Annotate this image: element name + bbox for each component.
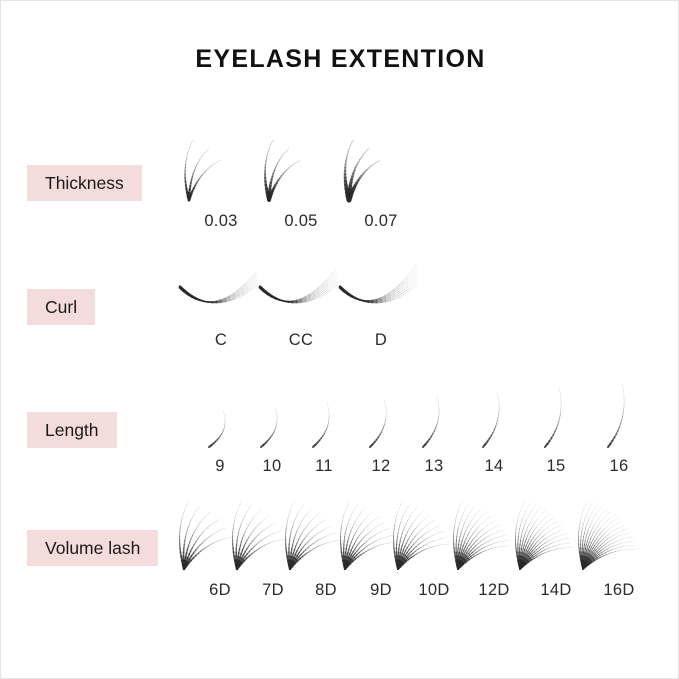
specimen-label-length-10: 10: [257, 457, 287, 476]
lash-graphic-curl-d: [336, 268, 426, 323]
specimen-volume-lash-16d: 16D: [575, 495, 663, 575]
specimen-length-13: 13: [419, 391, 449, 451]
lash-graphic-curl-cc: [256, 268, 346, 323]
specimen-label-length-16: 16: [604, 457, 634, 476]
specimen-label-length-11: 11: [309, 457, 339, 476]
lash-graphic-length-12: [366, 395, 396, 451]
row-label-chip-length: Length: [27, 412, 117, 448]
lash-graphic-thickness-0.03: [181, 134, 261, 206]
lash-graphic-length-10: [257, 403, 287, 451]
specimen-label-curl-c: C: [176, 331, 266, 350]
specimen-label-thickness-0.07: 0.07: [341, 212, 421, 231]
specimen-length-14: 14: [479, 387, 509, 451]
specimen-label-length-13: 13: [419, 457, 449, 476]
lash-graphic-length-13: [419, 391, 449, 451]
specimen-thickness-0.03: 0.03: [181, 134, 261, 206]
specimen-length-16: 16: [604, 379, 634, 451]
specimen-label-thickness-0.03: 0.03: [181, 212, 261, 231]
specimen-length-15: 15: [541, 383, 571, 451]
specimen-label-length-12: 12: [366, 457, 396, 476]
specimen-curl-cc: CC: [256, 268, 346, 323]
lash-graphic-length-11: [309, 399, 339, 451]
row-label-chip-volume-lash: Volume lash: [27, 530, 158, 566]
lash-graphic-thickness-0.05: [261, 134, 341, 206]
specimen-curl-d: D: [336, 268, 426, 323]
lash-graphic-length-16: [604, 379, 634, 451]
lash-graphic-curl-c: [176, 268, 266, 323]
specimen-length-10: 10: [257, 403, 287, 451]
lash-graphic-volume-lash-16d: [575, 495, 663, 575]
row-label-chip-curl: Curl: [27, 289, 95, 325]
specimen-thickness-0.05: 0.05: [261, 134, 341, 206]
lash-graphic-length-14: [479, 387, 509, 451]
eyelash-extension-infographic: EYELASH EXTENTION Thickness0.030.050.07C…: [0, 0, 679, 679]
specimen-label-length-9: 9: [205, 457, 235, 476]
specimen-length-11: 11: [309, 399, 339, 451]
lash-graphic-length-15: [541, 383, 571, 451]
specimen-label-thickness-0.05: 0.05: [261, 212, 341, 231]
specimen-label-curl-cc: CC: [256, 331, 346, 350]
specimen-label-length-15: 15: [541, 457, 571, 476]
specimen-length-12: 12: [366, 395, 396, 451]
specimen-label-volume-lash-16d: 16D: [575, 581, 663, 600]
page-title: EYELASH EXTENTION: [1, 45, 679, 74]
specimen-thickness-0.07: 0.07: [341, 134, 421, 206]
specimen-length-9: 9: [205, 407, 235, 451]
row-label-chip-thickness: Thickness: [27, 165, 142, 201]
specimen-label-curl-d: D: [336, 331, 426, 350]
lash-graphic-length-9: [205, 407, 235, 451]
specimen-label-length-14: 14: [479, 457, 509, 476]
specimen-curl-c: C: [176, 268, 266, 323]
lash-graphic-thickness-0.07: [341, 134, 421, 206]
